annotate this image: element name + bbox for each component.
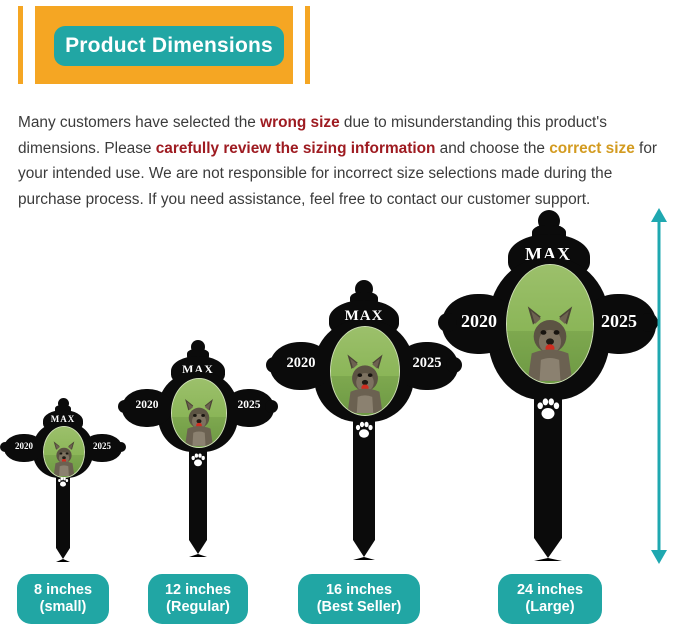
product-figure-12-inch[interactable]: MAX 2020 2025 <box>118 340 278 558</box>
header-accent-bar-right <box>305 6 310 84</box>
intro-text-segment-1: Many customers have selected the <box>18 114 260 131</box>
dog-illustration <box>339 336 391 413</box>
highlight-wrong-size: wrong size <box>260 114 340 131</box>
size-label-24-inch[interactable]: 24 inches (Large) <box>498 574 602 624</box>
size-label-line-1: 16 inches <box>326 582 392 599</box>
size-label-line-1: 24 inches <box>517 582 583 599</box>
marker-artwork: MAX 2020 2025 <box>266 280 462 558</box>
size-label-12-inch[interactable]: 12 inches (Regular) <box>148 574 248 624</box>
product-figure-8-inch[interactable]: MAX 2020 2025 <box>0 398 126 558</box>
pet-photo <box>506 264 594 384</box>
paw-print-icon <box>190 452 206 468</box>
product-figure-16-inch[interactable]: MAX 2020 2025 <box>266 280 462 558</box>
size-label-line-1: 12 inches <box>165 582 231 599</box>
dog-illustration <box>178 386 219 446</box>
header-accent-bar-left <box>18 6 23 84</box>
stake-tip <box>56 548 70 562</box>
arrow-head-down-icon <box>651 550 667 564</box>
size-label-line-2: (small) <box>40 599 87 616</box>
size-label-line-2: (Best Seller) <box>317 599 402 616</box>
intro-text-segment-3: and choose the <box>435 140 549 157</box>
year-left-label: 2020 <box>5 441 43 451</box>
marker-artwork: MAX 2020 2025 <box>438 210 658 558</box>
size-label-line-1: 8 inches <box>34 582 92 599</box>
stake-tip <box>353 540 375 560</box>
pet-photo <box>330 326 400 416</box>
size-label-line-2: (Large) <box>525 599 574 616</box>
memorial-plaque: MAX 2020 2025 <box>118 340 278 452</box>
memorial-plaque: MAX 2020 2025 <box>0 398 126 478</box>
header-banner: Product Dimensions <box>18 6 310 84</box>
size-label-line-2: (Regular) <box>166 599 230 616</box>
year-right-label: 2025 <box>83 441 121 451</box>
highlight-review-sizing: carefully review the sizing information <box>156 140 436 157</box>
paw-print-icon <box>535 396 561 422</box>
year-left-label: 2020 <box>271 355 331 372</box>
pet-photo <box>171 378 227 448</box>
size-label-16-inch[interactable]: 16 inches (Best Seller) <box>298 574 420 624</box>
year-left-label: 2020 <box>123 399 171 411</box>
stake-tip <box>534 538 562 561</box>
marker-artwork: MAX 2020 2025 <box>118 340 278 558</box>
pet-photo <box>43 426 85 478</box>
dog-illustration <box>517 277 582 381</box>
memorial-plaque: MAX 2020 2025 <box>438 210 658 400</box>
memorial-plaque: MAX 2020 2025 <box>266 280 462 422</box>
product-figure-24-inch[interactable]: MAX 2020 2025 <box>438 210 658 558</box>
page-title: Product Dimensions <box>65 34 273 58</box>
marker-artwork: MAX 2020 2025 <box>0 398 126 558</box>
year-left-label: 2020 <box>443 311 515 332</box>
paw-print-icon <box>57 476 69 488</box>
height-indicator-arrow <box>649 208 669 564</box>
highlight-correct-size: correct size <box>549 140 635 157</box>
stake-tip <box>189 540 207 557</box>
dog-illustration <box>49 432 79 476</box>
paw-print-icon <box>354 420 374 440</box>
size-label-8-inch[interactable]: 8 inches (small) <box>17 574 109 624</box>
page-title-badge: Product Dimensions <box>54 26 284 66</box>
intro-paragraph: Many customers have selected the wrong s… <box>18 110 666 212</box>
arrow-shaft <box>658 218 661 554</box>
